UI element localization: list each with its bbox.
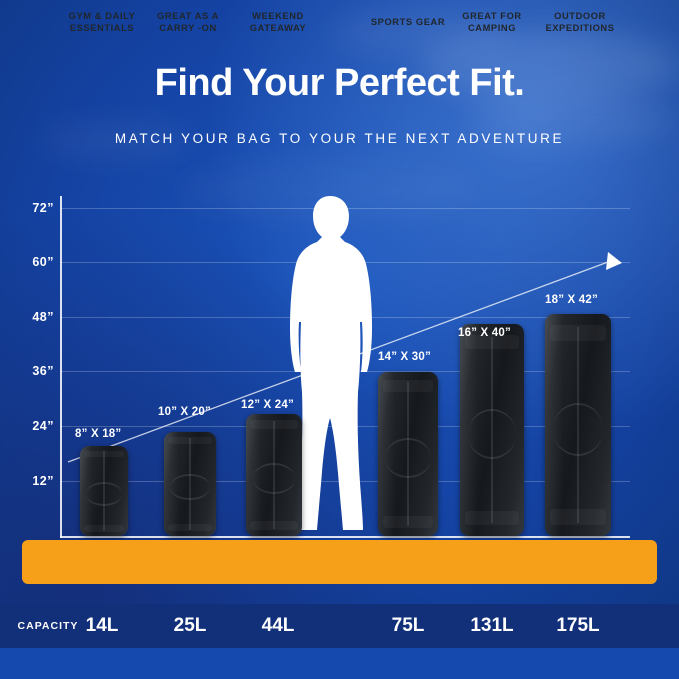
footer-strip xyxy=(0,648,679,679)
bag-6[interactable] xyxy=(545,314,611,536)
use-case-3: WEEKEND GATEAWAY xyxy=(228,0,328,44)
use-case-6: OUTDOOR EXPEDITIONS xyxy=(530,0,630,44)
y-tick-label-12: 12” xyxy=(20,474,54,488)
y-tick-label-48: 48” xyxy=(20,310,54,324)
y-tick-label-72: 72” xyxy=(20,201,54,215)
use-case-5: GREAT FOR CAMPING xyxy=(444,0,540,44)
bag-5[interactable] xyxy=(460,324,524,536)
y-tick-label-60: 60” xyxy=(20,255,54,269)
y-axis xyxy=(60,196,62,538)
capacity-6: 175L xyxy=(528,604,628,648)
bag-1-size-label: 8” X 18” xyxy=(75,428,121,440)
use-case-band xyxy=(22,540,657,584)
capacity-3: 44L xyxy=(228,604,328,648)
bag-2-size-label: 10” X 20” xyxy=(158,406,211,418)
capacity-2: 25L xyxy=(140,604,240,648)
y-tick-label-24: 24” xyxy=(20,419,54,433)
use-case-4: SPORTS GEAR xyxy=(360,0,456,44)
bag-3[interactable] xyxy=(246,414,302,536)
bag-3-size-label: 12” X 24” xyxy=(241,399,294,411)
bag-6-size-label: 18” X 42” xyxy=(545,294,598,306)
bag-5-size-label: 16” X 40” xyxy=(458,327,511,339)
infographic-page: Find Your Perfect Fit. MATCH YOUR BAG TO… xyxy=(0,0,679,679)
bag-1[interactable] xyxy=(80,446,128,536)
bag-4[interactable] xyxy=(378,372,438,536)
bag-4-size-label: 14” X 30” xyxy=(378,351,431,363)
bag-2[interactable] xyxy=(164,432,216,536)
capacity-1: 14L xyxy=(52,604,152,648)
x-axis xyxy=(60,536,630,538)
use-case-2: GREAT AS A CARRY -ON xyxy=(138,0,238,44)
capacity-5: 131L xyxy=(442,604,542,648)
y-tick-label-36: 36” xyxy=(20,364,54,378)
